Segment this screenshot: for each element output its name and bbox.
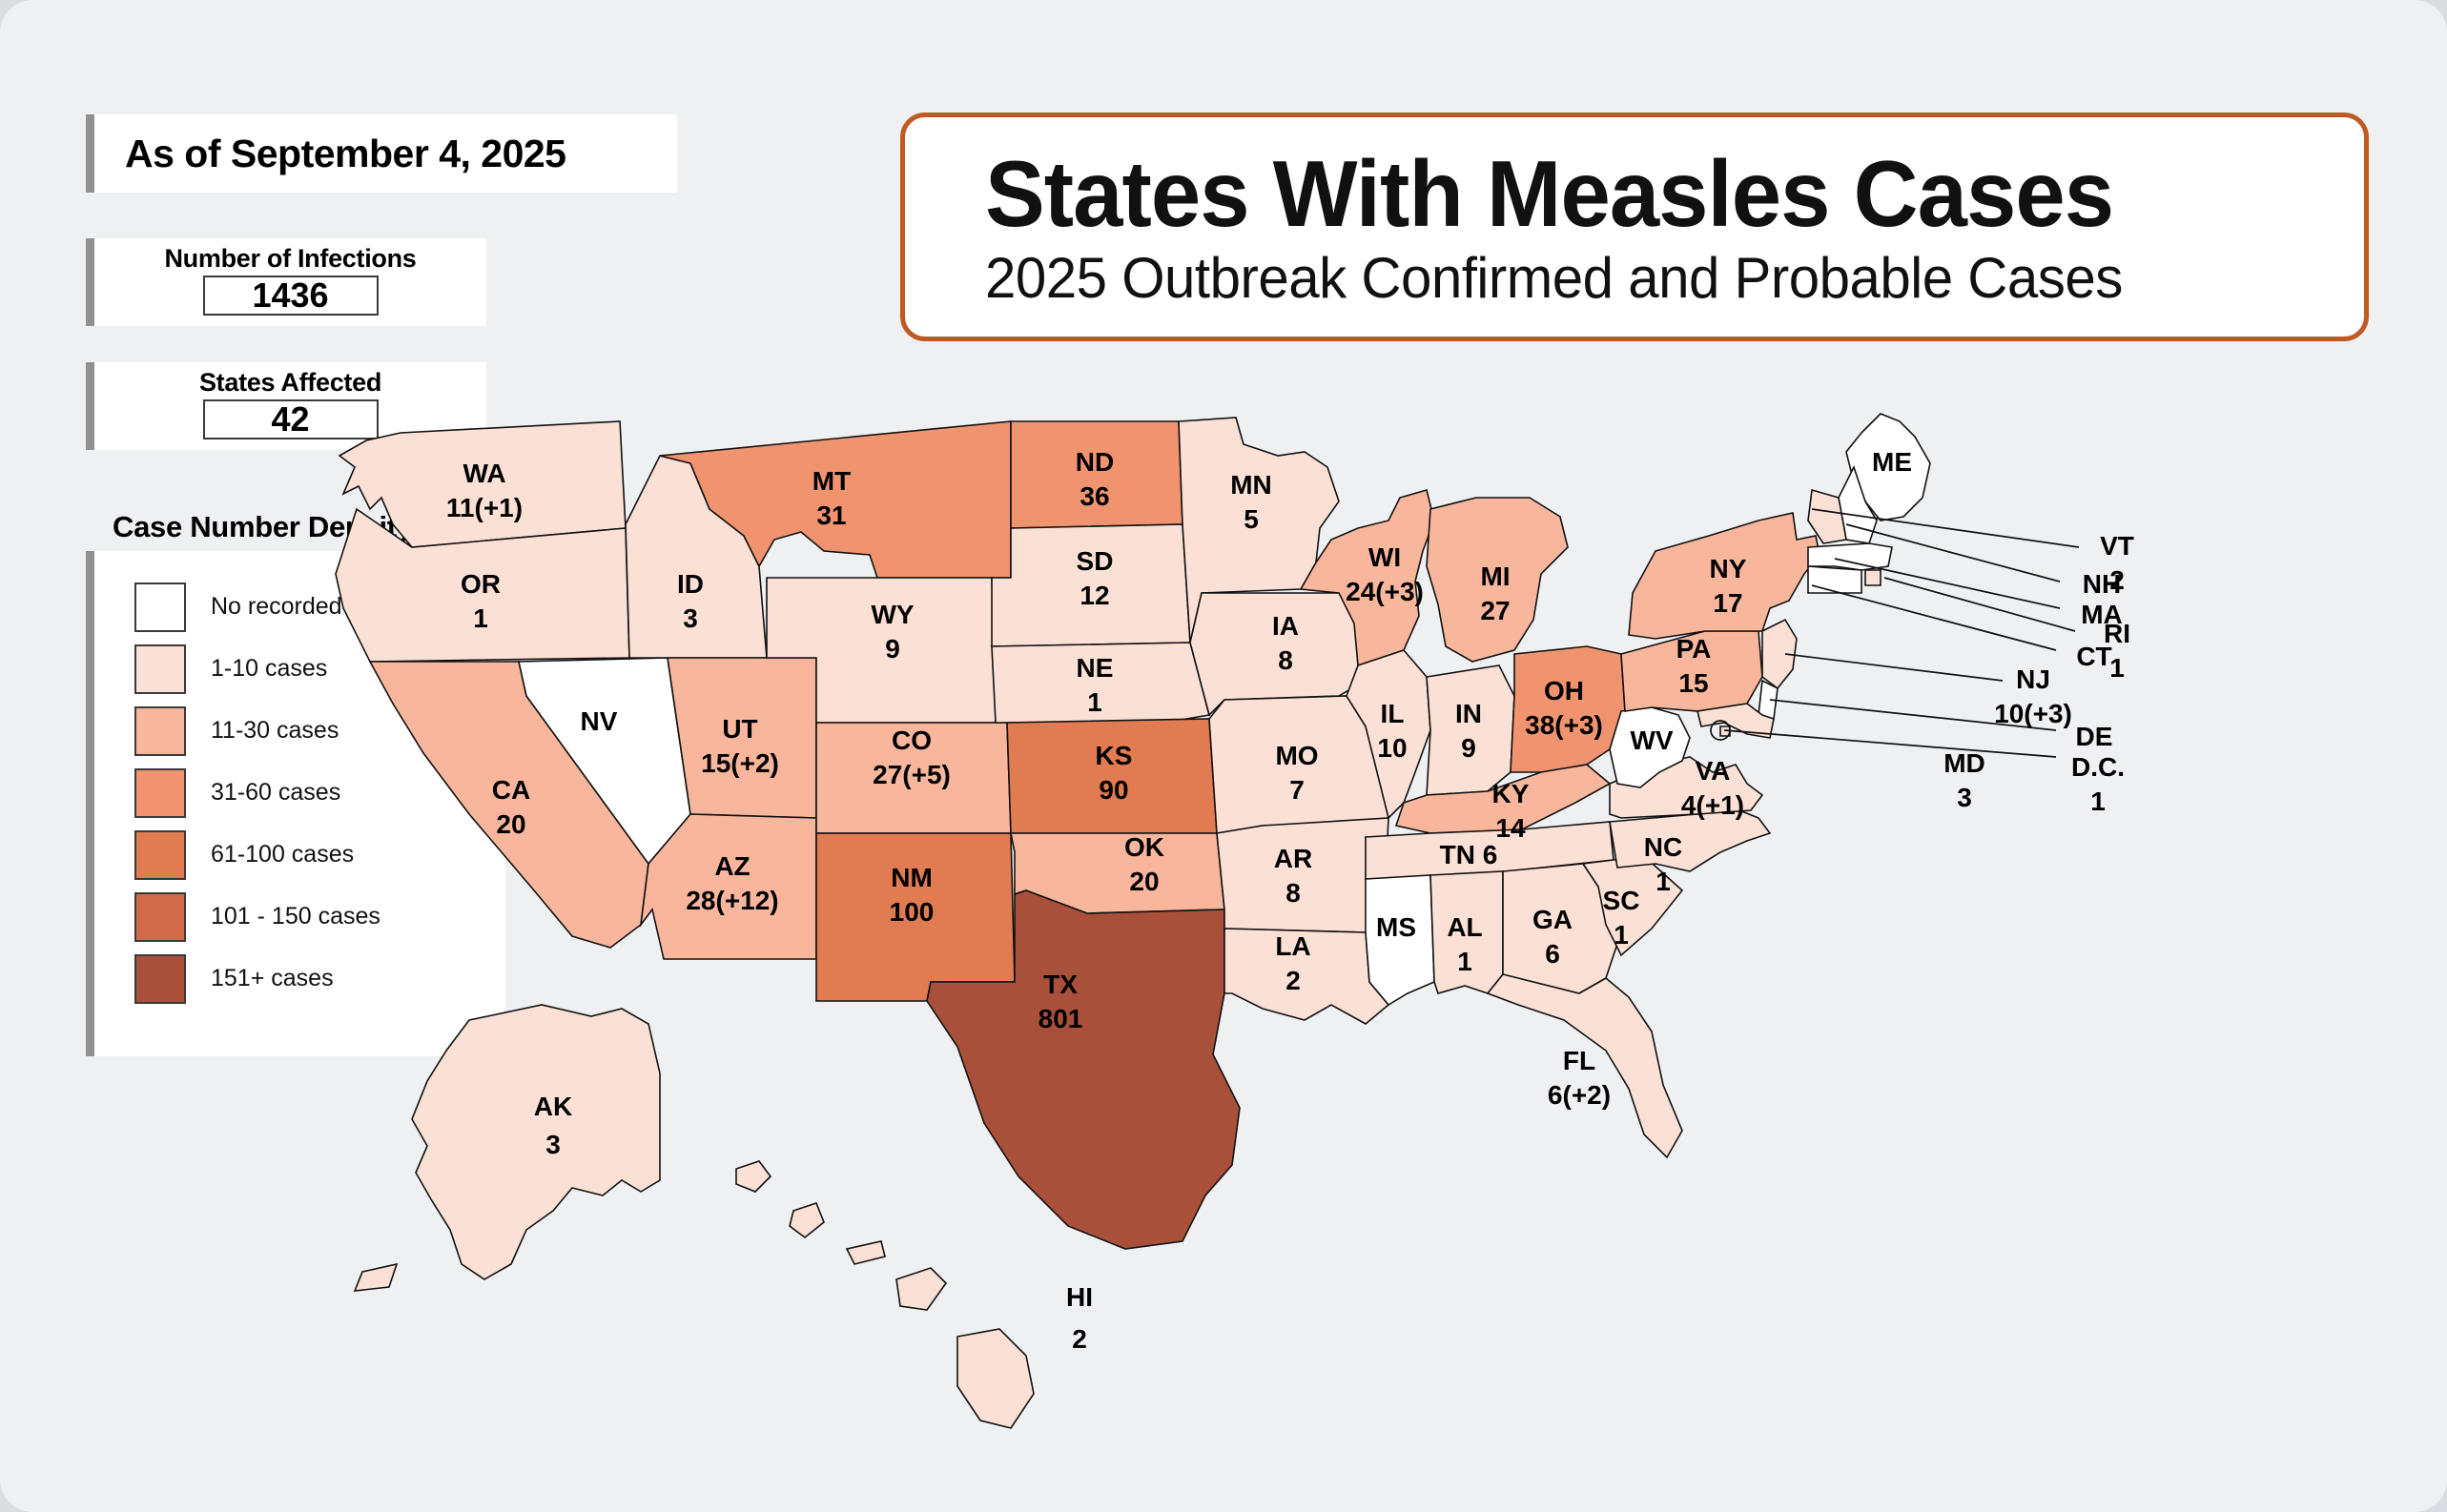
value-WY: 9 <box>885 634 900 664</box>
label-OH: OH <box>1544 676 1584 705</box>
value-FL: 6(+2) <box>1548 1080 1611 1110</box>
value-IA: 8 <box>1278 645 1293 675</box>
label-CT: CT <box>2076 642 2111 671</box>
value-ID: 3 <box>683 603 698 633</box>
label-WV: WV <box>1630 725 1673 755</box>
label-OK: OK <box>1124 832 1164 862</box>
state-RI[interactable] <box>1865 570 1881 585</box>
value-CO: 27(+5) <box>873 760 951 789</box>
value-OR: 1 <box>473 603 488 633</box>
value-GA: 6 <box>1545 939 1560 969</box>
number-of-infections-value: 1436 <box>203 276 379 316</box>
page-title: States With Measles Cases <box>985 147 2309 240</box>
value-OH: 38(+3) <box>1525 710 1603 740</box>
value-LA: 2 <box>1285 966 1301 995</box>
label-NH: NH <box>2083 569 2121 599</box>
label-AL: AL <box>1447 912 1482 942</box>
label-TX: TX <box>1043 970 1078 999</box>
label-WA: WA <box>463 459 505 488</box>
leader-line-NJ <box>1785 654 2003 681</box>
value-KY: 14 <box>1495 813 1526 843</box>
value-NC: 1 <box>1655 867 1671 896</box>
label-WY: WY <box>871 600 914 629</box>
value-AR: 8 <box>1285 878 1301 908</box>
as-of-date-card: As of September 4, 2025 <box>86 114 677 193</box>
number-of-infections-card: Number of Infections 1436 <box>86 238 486 326</box>
label-MI: MI <box>1480 562 1510 591</box>
value-WA: 11(+1) <box>446 493 523 522</box>
value-VA: 4(+1) <box>1681 790 1744 820</box>
infographic-page: As of September 4, 2025 Number of Infect… <box>0 0 2447 1512</box>
value-ND: 36 <box>1080 481 1109 511</box>
value-NM: 100 <box>890 897 935 927</box>
label-AZ: AZ <box>714 851 750 881</box>
label-NV: NV <box>581 706 618 736</box>
legend-swatch-6 <box>134 954 186 1004</box>
label-NJ: NJ <box>2016 664 2050 694</box>
value-MO: 7 <box>1289 775 1305 805</box>
label-ME: ME <box>1872 447 1912 477</box>
as-of-date-label: As of September 4, 2025 <box>94 132 565 176</box>
label-ND: ND <box>1076 447 1114 477</box>
label-PA: PA <box>1676 634 1712 664</box>
label-DC: D.C. <box>2071 752 2125 782</box>
label-KY: KY <box>1492 779 1530 808</box>
label-AR: AR <box>1274 844 1312 873</box>
title-banner: States With Measles Cases 2025 Outbreak … <box>900 112 2369 341</box>
value-MI: 27 <box>1480 596 1510 625</box>
label-SD: SD <box>1077 546 1114 576</box>
label-AK: AK <box>534 1092 572 1121</box>
label-SC: SC <box>1603 886 1640 915</box>
value-HI: 2 <box>1072 1324 1087 1354</box>
label-MT: MT <box>812 466 851 496</box>
state-AR[interactable] <box>1217 818 1388 932</box>
label-HI: HI <box>1066 1282 1093 1312</box>
label-MS: MS <box>1376 912 1416 942</box>
label-NC: NC <box>1644 832 1682 862</box>
legend-swatch-0 <box>134 582 186 632</box>
value-DC: 1 <box>2090 787 2106 816</box>
label-VT: VT <box>2100 531 2134 561</box>
value-MD: 3 <box>1957 783 1972 812</box>
value-SD: 12 <box>1080 581 1109 610</box>
value-CA: 20 <box>496 809 525 839</box>
value-TX: 801 <box>1038 1004 1083 1033</box>
label-LA: LA <box>1275 931 1310 961</box>
label-NE: NE <box>1077 653 1114 683</box>
state-HI[interactable] <box>736 1161 1034 1428</box>
label-FL: FL <box>1563 1046 1595 1075</box>
value-AZ: 28(+12) <box>686 886 778 915</box>
label-KS: KS <box>1096 741 1133 770</box>
label-ID: ID <box>677 569 704 599</box>
label-MD: MD <box>1943 748 1985 778</box>
states-affected-title: States Affected <box>94 368 486 398</box>
value-KS: 90 <box>1099 775 1128 805</box>
leader-line-RI <box>1884 578 2075 631</box>
label-DE: DE <box>2076 722 2113 751</box>
value-UT: 15(+2) <box>701 748 779 778</box>
us-choropleth-map: WA 11(+1) OR 1 ID 3 MT 31 ND 36 MN 5 SD … <box>286 410 2413 1478</box>
legend-swatch-3 <box>134 768 186 818</box>
value-PA: 15 <box>1678 668 1708 698</box>
value-IL: 10 <box>1377 733 1407 763</box>
label-IN: IN <box>1455 699 1482 728</box>
state-OH[interactable] <box>1511 646 1625 772</box>
value-NY: 17 <box>1713 588 1742 618</box>
legend-swatch-5 <box>134 892 186 942</box>
state-IN[interactable] <box>1427 665 1514 795</box>
value-MN: 5 <box>1244 504 1259 534</box>
label-IL: IL <box>1381 699 1405 728</box>
legend-swatch-4 <box>134 830 186 880</box>
value-MT: 31 <box>816 501 846 530</box>
label-WI: WI <box>1368 542 1401 572</box>
label-VA: VA <box>1696 756 1731 786</box>
state-AK[interactable] <box>355 1005 660 1291</box>
number-of-infections-title: Number of Infections <box>94 244 486 274</box>
leader-line-DC <box>1724 730 2056 757</box>
label-TN: TN 6 <box>1440 840 1498 869</box>
state-MA[interactable] <box>1808 543 1892 570</box>
label-NY: NY <box>1710 554 1747 583</box>
label-NM: NM <box>891 863 933 892</box>
leader-line-CT <box>1812 585 2056 650</box>
label-UT: UT <box>722 714 757 744</box>
value-OK: 20 <box>1129 867 1159 896</box>
label-IA: IA <box>1272 611 1299 641</box>
label-CO: CO <box>892 725 932 755</box>
value-NE: 1 <box>1087 687 1102 717</box>
label-MN: MN <box>1230 470 1272 500</box>
value-AL: 1 <box>1457 947 1472 976</box>
value-SC: 1 <box>1614 920 1629 950</box>
label-OR: OR <box>461 569 501 599</box>
state-CT[interactable] <box>1808 566 1861 593</box>
value-NJ: 10(+3) <box>1994 699 2072 728</box>
legend-swatch-2 <box>134 706 186 756</box>
page-subtitle: 2025 Outbreak Confirmed and Probable Cas… <box>985 248 2323 308</box>
label-CA: CA <box>492 775 530 805</box>
value-WI: 24(+3) <box>1346 577 1424 606</box>
legend-swatch-1 <box>134 644 186 694</box>
label-GA: GA <box>1532 905 1573 934</box>
value-IN: 9 <box>1461 733 1476 763</box>
label-MO: MO <box>1275 741 1318 770</box>
value-AK: 3 <box>545 1130 561 1159</box>
